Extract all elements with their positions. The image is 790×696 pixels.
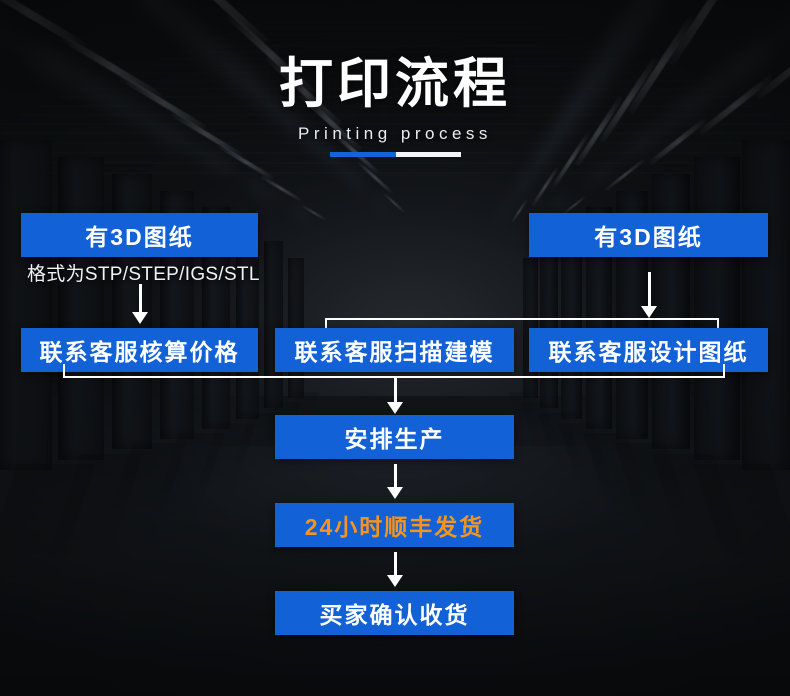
flow-box-contact-scan[interactable]: 联系客服扫描建模 — [275, 328, 514, 372]
flowchart-poster: 打印流程 Printing process 有3D图纸 有3D图纸 格式为STP… — [0, 0, 790, 696]
flow-box-ship-24h[interactable]: 24小时顺丰发货 — [275, 503, 514, 547]
connector-bracket-bottom-left-stub — [63, 364, 65, 377]
arrow-right-down-1 — [637, 272, 661, 318]
format-caption: 格式为STP/STEP/IGS/STL — [27, 259, 260, 286]
connector-bracket-top — [325, 318, 719, 320]
title-divider — [330, 152, 461, 157]
connector-bracket-bottom-right-stub — [723, 364, 725, 377]
arrow-to-shipping — [383, 464, 407, 499]
divider-segment-blue — [330, 152, 396, 157]
arrow-left-down-1 — [128, 284, 152, 324]
flow-box-contact-design[interactable]: 联系客服设计图纸 — [529, 328, 768, 372]
arrow-to-production — [383, 376, 407, 414]
flow-box-contact-quote[interactable]: 联系客服核算价格 — [21, 328, 258, 372]
flow-box-arrange-production[interactable]: 安排生产 — [275, 415, 514, 459]
page-title: 打印流程 — [0, 57, 790, 111]
flow-box-has-drawing-right[interactable]: 有3D图纸 — [529, 213, 768, 257]
page-subtitle: Printing process — [0, 124, 790, 144]
divider-segment-white — [396, 152, 461, 157]
arrow-to-confirm — [383, 552, 407, 587]
flow-box-buyer-confirm[interactable]: 买家确认收货 — [275, 591, 514, 635]
flow-box-has-drawing-left[interactable]: 有3D图纸 — [21, 213, 258, 257]
